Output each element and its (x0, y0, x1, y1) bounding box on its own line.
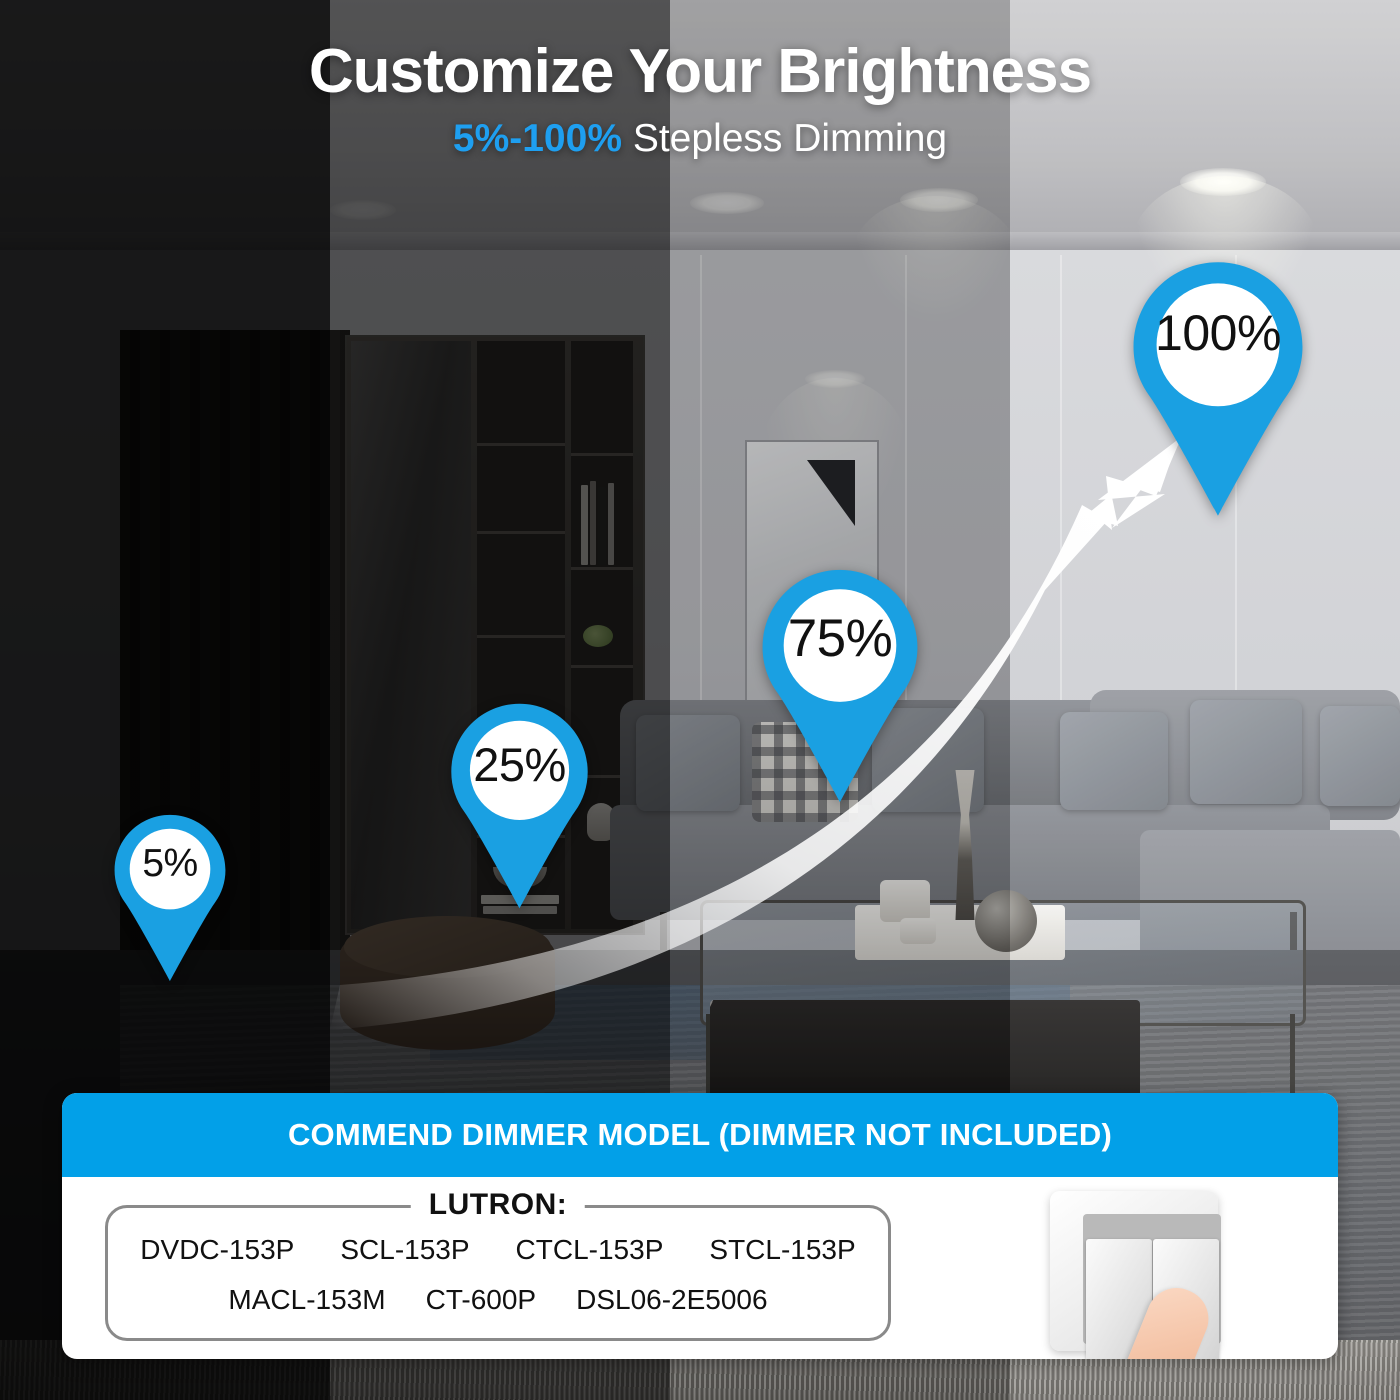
subtitle-rest: Stepless Dimming (622, 117, 947, 160)
model-row: DVDC-153P SCL-153P CTCL-153P STCL-153P (118, 1234, 878, 1266)
subtitle-highlight: 5%-100% (453, 117, 622, 160)
page-title: Customize Your Brightness (0, 0, 1400, 107)
card-body: LUTRON: DVDC-153P SCL-153P CTCL-153P STC… (62, 1177, 1338, 1359)
decor-cup (880, 880, 930, 922)
model-code: CT-600P (426, 1284, 537, 1316)
brightness-pin-100: 100% (1122, 258, 1314, 520)
brightness-pin-label: 75% (752, 608, 928, 669)
sofa-cushion (1060, 712, 1168, 810)
decor-sphere (975, 890, 1037, 952)
model-code: STCL-153P (709, 1234, 855, 1266)
recessed-downlight-icon (330, 200, 396, 220)
leather-ottoman-top (344, 916, 551, 978)
downlight-glow (850, 196, 1020, 326)
recessed-downlight-icon (690, 192, 764, 214)
card-banner-title: COMMEND DIMMER MODEL (DIMMER NOT INCLUDE… (288, 1117, 1112, 1153)
lutron-model-group: LUTRON: DVDC-153P SCL-153P CTCL-153P STC… (105, 1205, 891, 1341)
model-code: MACL-153M (228, 1284, 385, 1316)
sofa-cushion (1320, 706, 1400, 806)
card-banner: COMMEND DIMMER MODEL (DIMMER NOT INCLUDE… (62, 1093, 1338, 1177)
sofa-cushion (1190, 700, 1302, 804)
model-row: MACL-153M CT-600P DSL06-2E5006 (118, 1284, 878, 1316)
brightness-pin-5: 5% (107, 812, 233, 984)
model-code: DVDC-153P (140, 1234, 294, 1266)
product-infographic: 5% 25% 75% 100% Customize Your Brightnes… (0, 0, 1400, 1400)
page-subtitle: 5%-100% Stepless Dimming (0, 117, 1400, 161)
lutron-legend: LUTRON: (411, 1188, 585, 1222)
brightness-pin-label: 25% (442, 737, 597, 792)
sofa-cushion (636, 715, 740, 811)
decor-plant (583, 625, 613, 647)
brightness-pin-75: 75% (752, 566, 928, 806)
brightness-pin-25: 25% (442, 700, 597, 912)
model-code: CTCL-153P (516, 1234, 664, 1266)
header: Customize Your Brightness 5%-100% Steple… (0, 0, 1400, 161)
model-code: DSL06-2E5006 (576, 1284, 767, 1316)
dimmer-model-card: COMMEND DIMMER MODEL (DIMMER NOT INCLUDE… (62, 1093, 1338, 1359)
brightness-pin-label: 5% (107, 842, 233, 886)
wall-switch-illustration (1032, 1183, 1282, 1359)
model-code: SCL-153P (340, 1234, 469, 1266)
brightness-pin-label: 100% (1122, 304, 1314, 362)
decor-cup (900, 918, 936, 944)
